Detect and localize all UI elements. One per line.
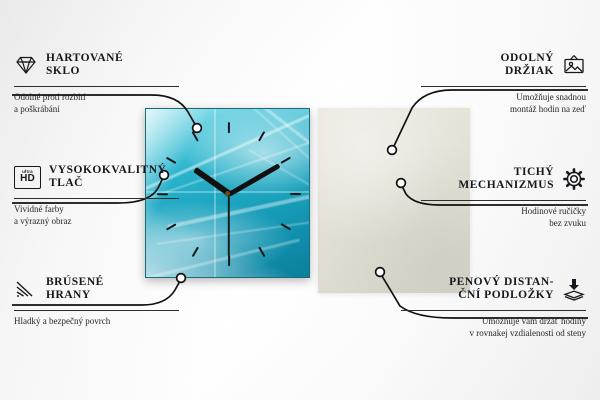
- feature-header: BRÚSENÉHRANY: [14, 272, 179, 306]
- divider: [14, 198, 179, 199]
- ground-edges-icon: [14, 277, 38, 301]
- feature-header: HARTOVANÉSKLO: [14, 48, 179, 82]
- feature-description: Hladký a bezpečný povrch: [14, 316, 179, 328]
- feature-title: ODOLNÝDRŽIAK: [421, 52, 554, 79]
- feature-tempered-glass[interactable]: HARTOVANÉSKLO Odolné proti rozbitía pošk…: [14, 48, 179, 115]
- connector-node-5: [397, 179, 406, 188]
- diamond-icon: [14, 53, 38, 77]
- divider: [401, 310, 586, 311]
- feature-title: TICHÝMECHANIZMUS: [421, 166, 554, 193]
- foam-spacer-icon: [562, 277, 586, 301]
- feature-description: Vividné farbya výrazný obraz: [14, 204, 179, 227]
- feature-description: Odolné proti rozbitía poškrábání: [14, 92, 179, 115]
- feature-description: Umožňuje snadnoumontáž hodin na zeď: [421, 92, 586, 115]
- feature-durable-hanger[interactable]: ODOLNÝDRŽIAK Umožňuje snadnoumontáž hodi…: [421, 48, 586, 115]
- feature-title: HARTOVANÉSKLO: [46, 52, 179, 79]
- divider: [14, 86, 179, 87]
- feature-header: ultra HD VYSOKOKVALITNÝTLAČ: [14, 160, 179, 194]
- connector-node-1: [193, 124, 202, 133]
- feature-foam-spacers[interactable]: PENOVÝ DISTAN-ČNÍ PODLOŽKY Umožňuje vám …: [401, 272, 586, 339]
- wall-hanger-icon: [562, 53, 586, 77]
- ultra-hd-main-label: HD: [20, 174, 35, 184]
- connector-node-4: [388, 146, 397, 155]
- feature-hq-print[interactable]: ultra HD VYSOKOKVALITNÝTLAČ Vividné farb…: [14, 160, 179, 227]
- feature-title: VYSOKOKVALITNÝTLAČ: [49, 164, 179, 191]
- infographic-canvas: +: [0, 0, 600, 400]
- feature-description: Umožňuje vám držať hodinyv rovnakej vzdi…: [401, 316, 586, 339]
- feature-title: PENOVÝ DISTAN-ČNÍ PODLOŽKY: [401, 276, 554, 303]
- feature-header: PENOVÝ DISTAN-ČNÍ PODLOŽKY: [401, 272, 586, 306]
- divider: [421, 86, 586, 87]
- gear-icon: [562, 167, 586, 191]
- divider: [14, 310, 179, 311]
- feature-silent-mechanism[interactable]: TICHÝMECHANIZMUS Hodinové ručičkybez zvu…: [421, 162, 586, 229]
- feature-ground-edges[interactable]: BRÚSENÉHRANY Hladký a bezpečný povrch: [14, 272, 179, 328]
- feature-description: Hodinové ručičkybez zvuku: [421, 206, 586, 229]
- divider: [421, 200, 586, 201]
- feature-title: BRÚSENÉHRANY: [46, 276, 179, 303]
- ultra-hd-icon: ultra HD: [14, 166, 41, 189]
- feature-header: ODOLNÝDRŽIAK: [421, 48, 586, 82]
- feature-header: TICHÝMECHANIZMUS: [421, 162, 586, 196]
- connector-node-6: [376, 268, 385, 277]
